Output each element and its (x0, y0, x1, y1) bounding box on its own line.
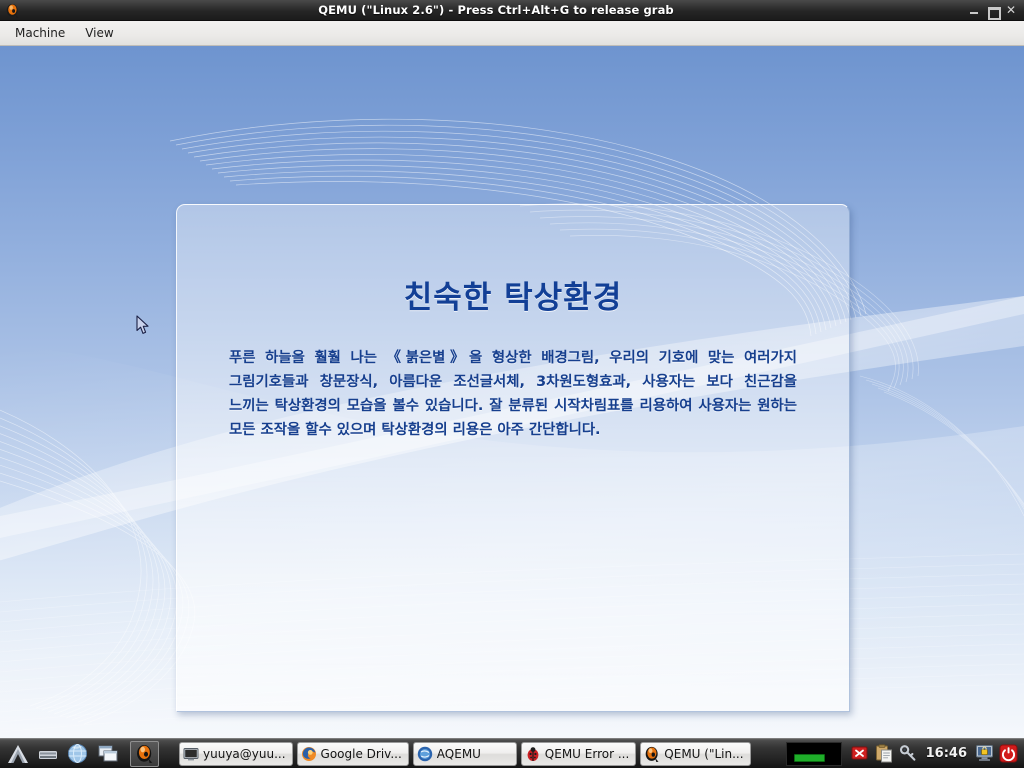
task-button-area: yuuya@yuu... Google Driv... (179, 742, 786, 766)
launcher-show-desktop[interactable] (93, 741, 122, 767)
system-tray: 16:46 (786, 742, 1018, 766)
pager-window (794, 754, 825, 762)
desktop-info-panel: 친숙한 탁상환경 푸른 하늘을 훨훨 나는 《붉은별》을 형상한 배경그림, 우… (176, 204, 850, 712)
arrow-menu-icon (6, 743, 30, 765)
tray-shutdown[interactable] (999, 744, 1018, 763)
menu-machine[interactable]: Machine (6, 23, 74, 44)
menu-view[interactable]: View (76, 23, 122, 44)
task-label: yuuya@yuu... (203, 747, 286, 761)
quick-launch-area (0, 741, 159, 767)
terminal-icon (183, 746, 199, 762)
task-firefox[interactable]: Google Driv... (297, 742, 409, 766)
task-qemu-error[interactable]: QEMU Error ... (521, 742, 637, 766)
qemu-application-window: QEMU ("Linux 2.6") - Press Ctrl+Alt+G to… (0, 0, 1024, 768)
desktop-pager[interactable] (786, 742, 842, 766)
window-title-bar[interactable]: QEMU ("Linux 2.6") - Press Ctrl+Alt+G to… (0, 0, 1024, 21)
panel-paragraph: 푸른 하늘을 훨훨 나는 《붉은별》을 형상한 배경그림, 우리의 기호에 맞는… (229, 346, 797, 442)
minimize-button[interactable] (970, 5, 979, 16)
task-qemu-linux[interactable]: QEMU ("Lin... (640, 742, 750, 766)
task-terminal[interactable]: yuuya@yuu... (179, 742, 293, 766)
maximize-button[interactable] (988, 5, 997, 16)
launcher-web-browser[interactable] (63, 741, 92, 767)
task-label: AQEMU (437, 747, 481, 761)
task-label: Google Driv... (321, 747, 402, 761)
globe-icon (67, 743, 88, 764)
mouse-cursor (136, 315, 150, 335)
tray-lock-screen[interactable] (975, 744, 994, 763)
clock[interactable]: 16:46 (923, 746, 970, 761)
launcher-kmenu[interactable] (3, 741, 32, 767)
window-controls: ✕ (970, 5, 1015, 16)
ladybug-icon (525, 746, 541, 762)
taskbar: yuuya@yuu... Google Driv... (0, 738, 1024, 768)
window-title-text: QEMU ("Linux 2.6") - Press Ctrl+Alt+G to… (22, 3, 970, 17)
menu-bar: Machine View (0, 21, 1024, 46)
tray-close-icon[interactable] (851, 744, 870, 763)
panel-content: 친숙한 탁상환경 푸른 하늘을 훨훨 나는 《붉은별》을 형상한 배경그림, 우… (177, 205, 849, 711)
qemu-logo-icon (2, 1, 22, 20)
qemu-logo-icon (644, 746, 660, 762)
task-label: QEMU ("Lin... (664, 747, 743, 761)
qemu-logo-icon (135, 744, 154, 763)
launcher-file-manager[interactable] (33, 741, 62, 767)
launcher-qemu[interactable] (130, 741, 159, 767)
task-label: QEMU Error ... (545, 747, 630, 761)
windows-icon (97, 744, 119, 763)
vm-guest-display[interactable]: 친숙한 탁상환경 푸른 하늘을 훨훨 나는 《붉은별》을 형상한 배경그림, 우… (0, 46, 1024, 738)
tray-key-icon[interactable] (899, 744, 918, 763)
aqemu-icon (417, 746, 433, 762)
task-aqemu[interactable]: AQEMU (413, 742, 517, 766)
tray-clipboard-icon[interactable] (875, 744, 894, 763)
drawer-icon (37, 745, 59, 763)
firefox-icon (301, 746, 317, 762)
close-button[interactable]: ✕ (1006, 5, 1015, 16)
panel-body-text: 푸른 하늘을 훨훨 나는 《붉은별》을 형상한 배경그림, 우리의 기호에 맞는… (211, 346, 815, 442)
panel-title: 친숙한 탁상환경 (211, 283, 815, 314)
